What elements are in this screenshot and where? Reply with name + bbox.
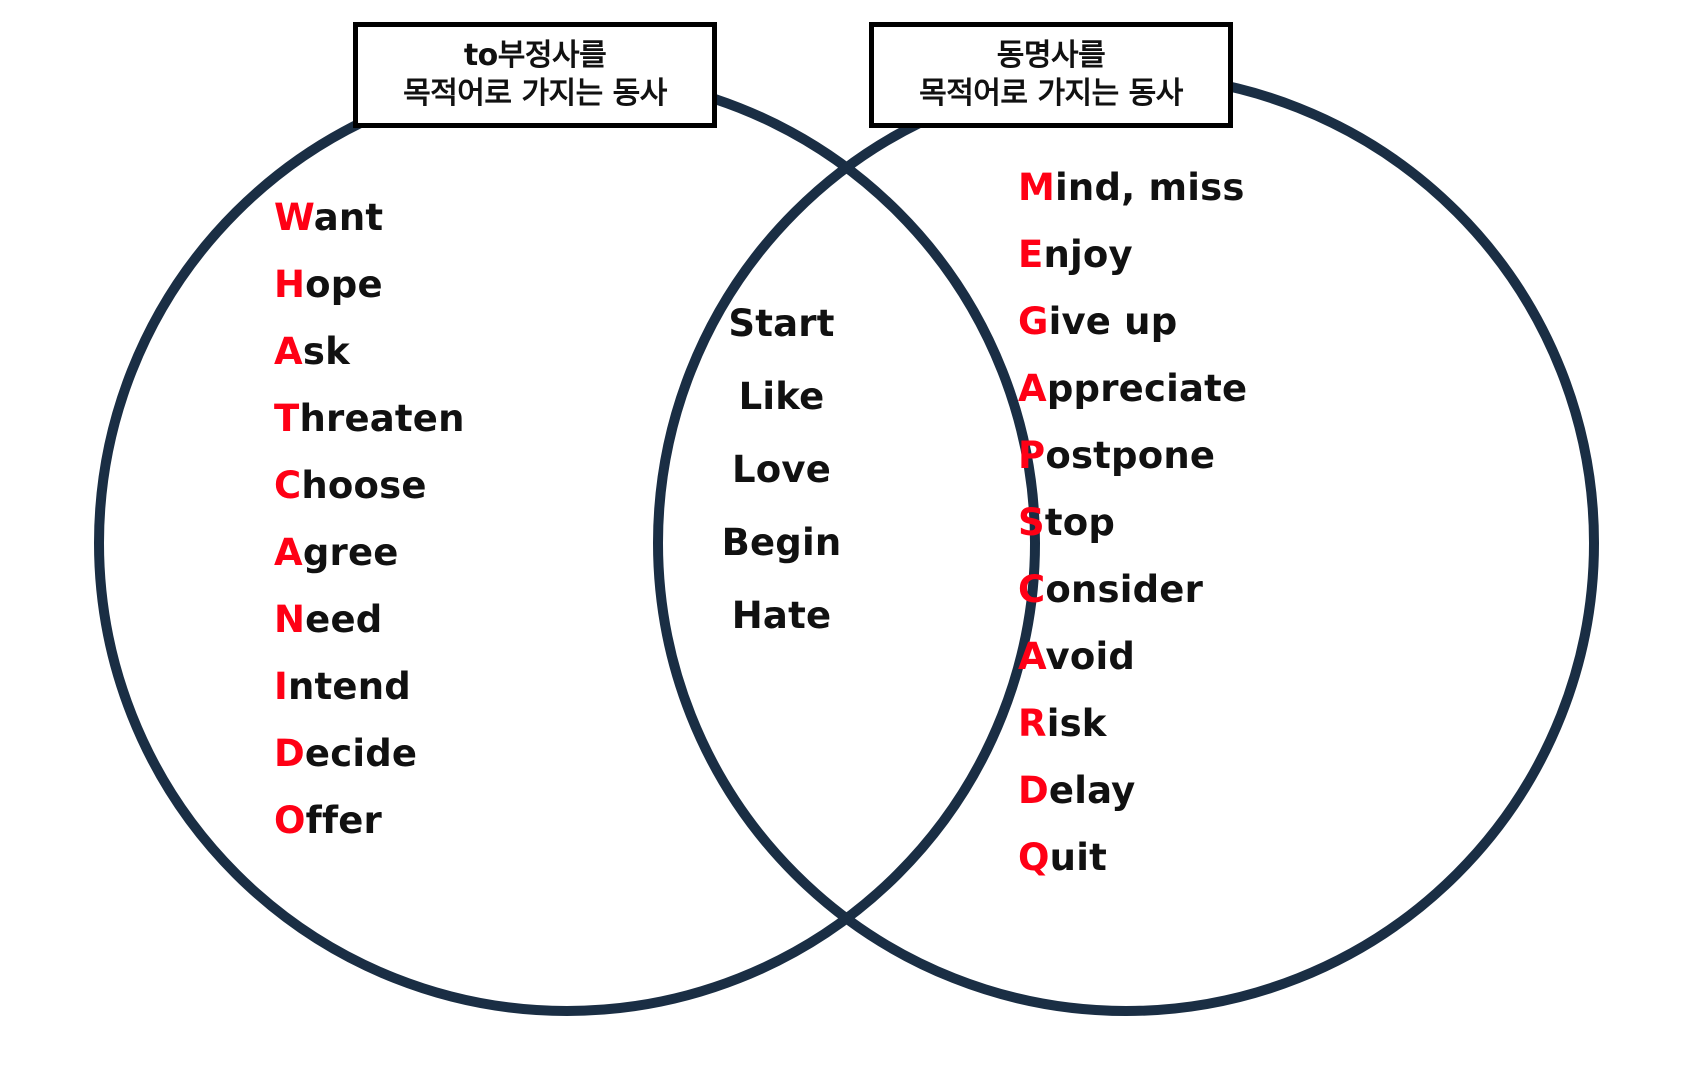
word-remainder: Hate: [732, 594, 832, 637]
right-title-line-2: 목적어로 가지는 동사: [888, 75, 1214, 113]
right-word-item: Give up: [1018, 300, 1247, 343]
word-initial-letter: A: [274, 531, 303, 574]
word-remainder: ant: [314, 196, 384, 239]
word-remainder: ecide: [305, 732, 417, 775]
word-initial-letter: W: [274, 196, 314, 239]
intersection-word-item: Start: [679, 302, 884, 345]
left-word-item: Ask: [274, 330, 465, 373]
right-word-item: Mind, miss: [1018, 166, 1247, 209]
word-remainder: njoy: [1043, 233, 1132, 276]
word-remainder: ntend: [288, 665, 411, 708]
right-word-item: Consider: [1018, 568, 1247, 611]
right-word-item: Avoid: [1018, 635, 1247, 678]
left-title-line-2: 목적어로 가지는 동사: [372, 75, 698, 113]
word-remainder: hreaten: [299, 397, 464, 440]
left-word-item: Need: [274, 598, 465, 641]
left-circle-word-list: WantHopeAskThreatenChooseAgreeNeedIntend…: [274, 196, 465, 866]
word-remainder: hoose: [301, 464, 426, 507]
word-initial-letter: R: [1018, 702, 1047, 745]
word-remainder: Begin: [722, 521, 842, 564]
left-word-item: Decide: [274, 732, 465, 775]
venn-diagram-canvas: to부정사를 목적어로 가지는 동사 동명사를 목적어로 가지는 동사 Want…: [0, 0, 1692, 1073]
intersection-word-item: Hate: [679, 594, 884, 637]
right-word-item: Quit: [1018, 836, 1247, 879]
right-circle-word-list: Mind, missEnjoyGive upAppreciatePostpone…: [1018, 166, 1247, 903]
right-word-item: Enjoy: [1018, 233, 1247, 276]
left-word-item: Choose: [274, 464, 465, 507]
word-initial-letter: M: [1018, 166, 1055, 209]
intersection-word-item: Like: [679, 375, 884, 418]
left-word-item: Offer: [274, 799, 465, 842]
right-word-item: Stop: [1018, 501, 1247, 544]
word-initial-letter: C: [1018, 568, 1045, 611]
right-word-item: Appreciate: [1018, 367, 1247, 410]
left-word-item: Want: [274, 196, 465, 239]
word-remainder: Love: [732, 448, 831, 491]
intersection-word-list: StartLikeLoveBeginHate: [679, 302, 884, 667]
left-word-item: Agree: [274, 531, 465, 574]
word-initial-letter: A: [1018, 367, 1047, 410]
word-remainder: onsider: [1045, 568, 1203, 611]
word-remainder: eed: [305, 598, 382, 641]
intersection-word-item: Begin: [679, 521, 884, 564]
word-remainder: elay: [1049, 769, 1136, 812]
left-circle-title-box: to부정사를 목적어로 가지는 동사: [353, 22, 717, 128]
left-title-line-1: to부정사를: [372, 37, 698, 75]
word-remainder: void: [1046, 635, 1136, 678]
word-initial-letter: S: [1018, 501, 1045, 544]
word-initial-letter: I: [274, 665, 288, 708]
word-initial-letter: T: [274, 397, 299, 440]
word-remainder: sk: [303, 330, 350, 373]
left-circle: [99, 75, 1035, 1011]
word-initial-letter: C: [274, 464, 301, 507]
right-word-item: Postpone: [1018, 434, 1247, 477]
word-initial-letter: G: [1018, 300, 1049, 343]
intersection-word-item: Love: [679, 448, 884, 491]
word-remainder: ive up: [1049, 300, 1178, 343]
word-initial-letter: A: [274, 330, 303, 373]
word-remainder: top: [1045, 501, 1115, 544]
word-remainder: uit: [1050, 836, 1107, 879]
word-remainder: ffer: [306, 799, 382, 842]
left-word-item: Intend: [274, 665, 465, 708]
word-remainder: isk: [1047, 702, 1107, 745]
right-word-item: Risk: [1018, 702, 1247, 745]
word-remainder: gree: [303, 531, 399, 574]
word-remainder: Like: [739, 375, 825, 418]
word-remainder: ostpone: [1045, 434, 1215, 477]
word-remainder: ope: [305, 263, 383, 306]
left-word-item: Threaten: [274, 397, 465, 440]
word-initial-letter: H: [274, 263, 305, 306]
right-circle-title-box: 동명사를 목적어로 가지는 동사: [869, 22, 1233, 128]
word-initial-letter: O: [274, 799, 306, 842]
word-initial-letter: E: [1018, 233, 1043, 276]
word-initial-letter: Q: [1018, 836, 1050, 879]
right-title-line-1: 동명사를: [888, 37, 1214, 75]
left-word-item: Hope: [274, 263, 465, 306]
word-initial-letter: A: [1018, 635, 1046, 678]
right-word-item: Delay: [1018, 769, 1247, 812]
word-remainder: Start: [728, 302, 834, 345]
word-initial-letter: P: [1018, 434, 1045, 477]
word-initial-letter: D: [1018, 769, 1049, 812]
word-initial-letter: N: [274, 598, 305, 641]
word-remainder: ind, miss: [1055, 166, 1245, 209]
word-remainder: ppreciate: [1047, 367, 1247, 410]
word-initial-letter: D: [274, 732, 305, 775]
